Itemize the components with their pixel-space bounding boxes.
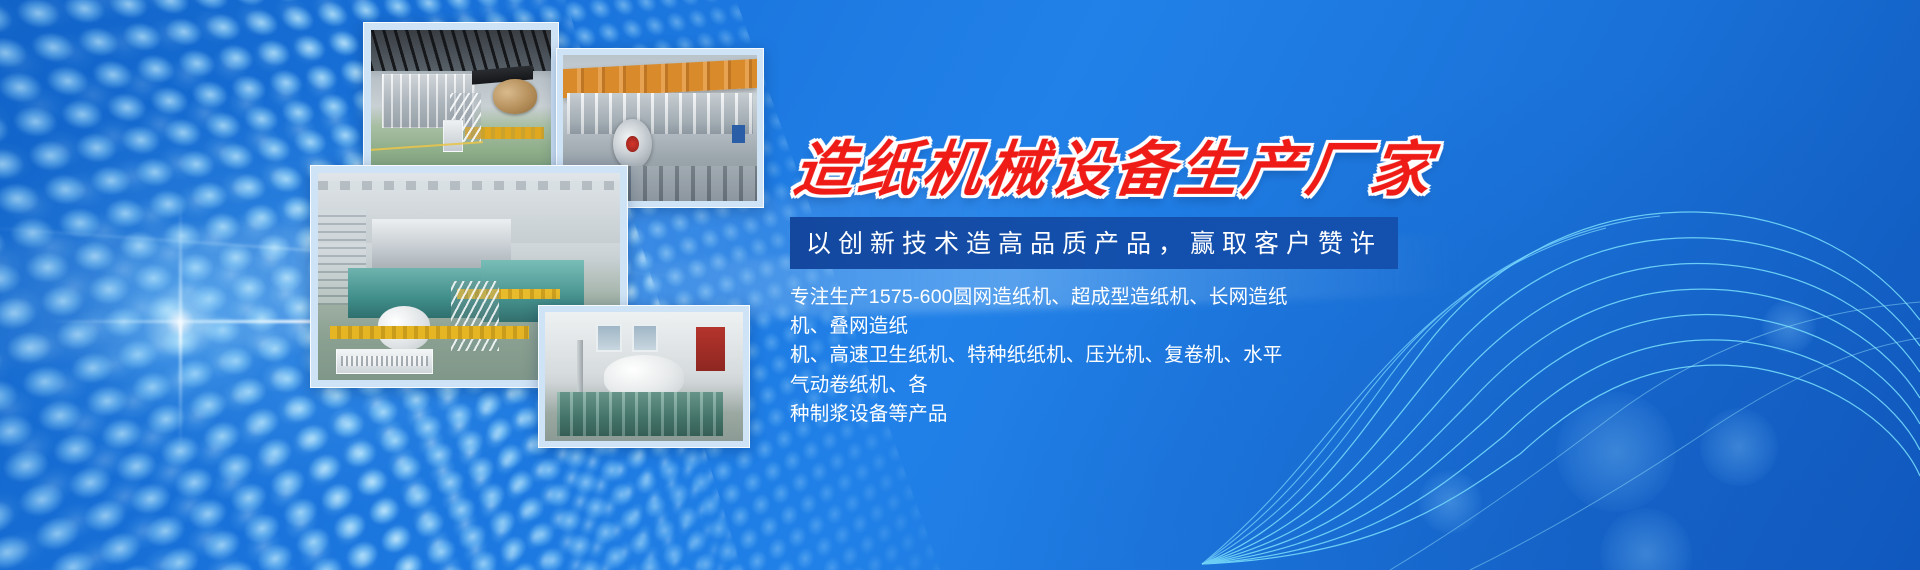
bokeh-dot	[1700, 408, 1778, 486]
photo-paper-machine-hall[interactable]	[363, 22, 559, 174]
promo-banner: 造纸机械设备生产厂家 以创新技术造高品质产品，赢取客户赞许 专注生产1575-6…	[0, 0, 1920, 570]
description-line-1: 专注生产1575-600圆网造纸机、超成型造纸机、长网造纸机、叠网造纸	[790, 283, 1290, 342]
photo-image	[371, 30, 551, 166]
lens-flare-icon	[30, 172, 330, 472]
description-line-2: 机、高速卫生纸机、特种纸纸机、压光机、复卷机、水平气动卷纸机、各	[790, 341, 1290, 400]
banner-text-block: 造纸机械设备生产厂家 以创新技术造高品质产品，赢取客户赞许 专注生产1575-6…	[790, 138, 1590, 429]
subtitle-band: 以创新技术造高品质产品，赢取客户赞许	[790, 217, 1398, 269]
bokeh-dot	[1600, 508, 1692, 570]
description-line-3: 种制浆设备等产品	[790, 400, 1290, 429]
product-description: 专注生产1575-600圆网造纸机、超成型造纸机、长网造纸机、叠网造纸 机、高速…	[790, 283, 1290, 429]
bokeh-dot	[1418, 470, 1482, 534]
lens-flare-vertical-ray	[179, 200, 182, 450]
subtitle-text: 以创新技术造高品质产品，赢取客户赞许	[806, 230, 1382, 258]
photo-image	[545, 312, 743, 441]
photo-roll-winder-workshop[interactable]	[538, 305, 750, 448]
bokeh-dot	[1762, 300, 1816, 354]
page-title: 造纸机械设备生产厂家	[790, 138, 1598, 203]
